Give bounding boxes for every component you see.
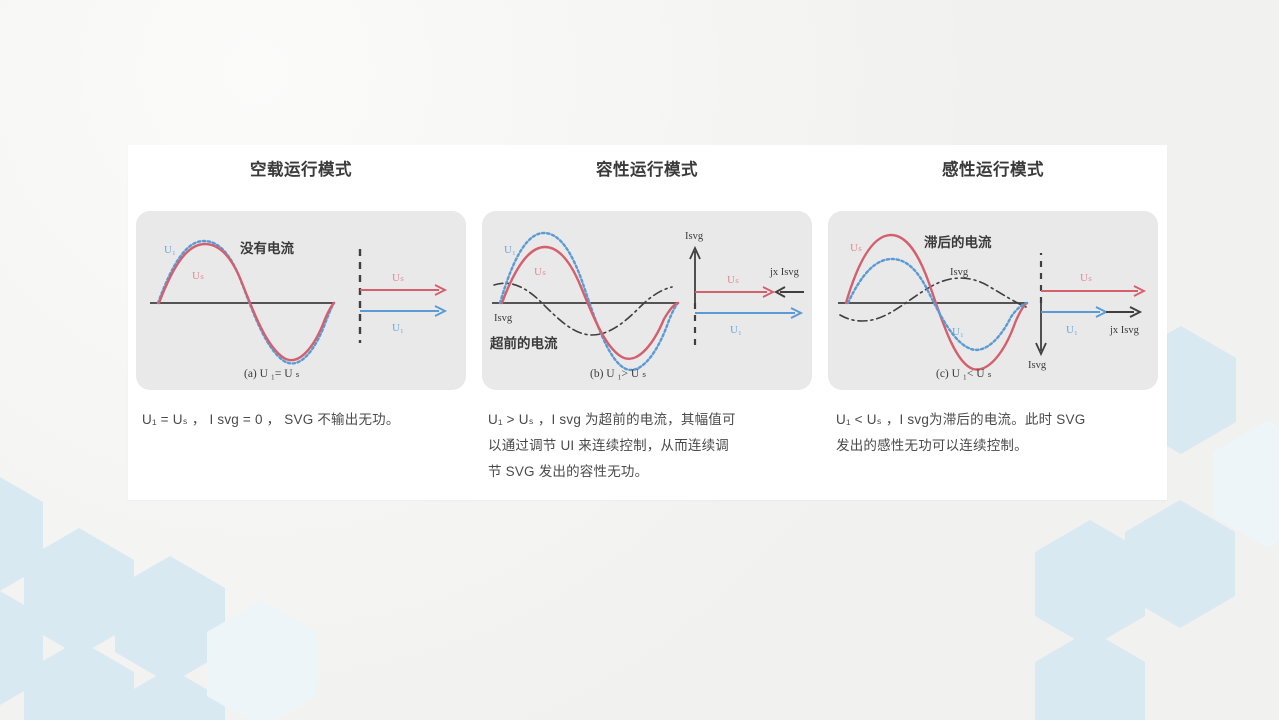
label-jx-isvg-c: jx Isvg (1109, 325, 1140, 336)
label-isvg-wave-b: Isvg (494, 313, 513, 324)
label-u1-phasor-b: U₁ (730, 324, 742, 336)
label-us-wave-c: Uₛ (850, 242, 862, 254)
label-us-wave-a: Uₛ (192, 270, 204, 282)
annotation-leading-current: 超前的电流 (489, 335, 558, 351)
caption-inductive: U₁ < Uₛ ，I svg为滞后的电流。此时 SVG 发出的感性无功可以连续控… (836, 407, 1160, 459)
figure-caption-a: (a) U ₁= U ₛ (244, 368, 300, 380)
label-us-phasor-b: Uₛ (727, 274, 739, 286)
caption-line: U₁ > Uₛ ，I svg 为超前的电流，其幅值可 (488, 407, 814, 433)
caption-no-load: U₁ = Uₛ ， I svg = 0 ， SVG 不输出无功。 (142, 407, 468, 433)
figure-panel-no-load: U₁ Uₛ 没有电流 Uₛ U₁ (a) U ₁= U ₛ (136, 211, 466, 390)
annotation-lagging-current: 滞后的电流 (924, 234, 992, 250)
caption-line: 节 SVG 发出的容性无功。 (488, 459, 814, 485)
column-no-load: 空载运行模式 U₁ Uₛ 没有电流 U (128, 145, 474, 500)
label-u1-phasor-a: U₁ (392, 322, 404, 334)
caption-line: U₁ = Uₛ ， I svg = 0 ， SVG 不输出无功。 (142, 407, 468, 433)
content-card: 空载运行模式 U₁ Uₛ 没有电流 U (128, 145, 1167, 500)
label-isvg-axis-c: Isvg (1028, 360, 1047, 371)
label-jx-isvg-b: jx Isvg (769, 267, 800, 278)
column-capacitive: 容性运行模式 U₁ Uₛ Isvg 超前的电流 Isvg (474, 145, 820, 500)
figure-caption-b: (b) U ₁> U ₛ (590, 368, 646, 380)
column-title-inductive: 感性运行模式 (820, 156, 1166, 180)
label-u1-phasor-c: U₁ (1066, 324, 1078, 336)
label-us-phasor-c: Uₛ (1080, 272, 1092, 284)
caption-line: 发出的感性无功可以连续控制。 (836, 433, 1160, 459)
label-u1-wave-c: U₁ (952, 326, 964, 338)
label-isvg-wave-c: Isvg (950, 267, 969, 278)
label-isvg-axis-b: Isvg (685, 231, 704, 242)
label-u1-wave-a: U₁ (164, 244, 176, 256)
waveform-us-a (159, 244, 334, 360)
label-us-wave-b: Uₛ (534, 266, 546, 278)
figure-panel-inductive: Uₛ U₁ Isvg 滞后的电流 Isvg Uₛ (828, 211, 1158, 390)
figure-caption-c: (c) U ₁< U ₛ (936, 368, 992, 380)
figure-panel-capacitive: U₁ Uₛ Isvg 超前的电流 Isvg Uₛ (482, 211, 812, 390)
column-title-no-load: 空载运行模式 (128, 156, 474, 180)
column-title-capacitive: 容性运行模式 (474, 156, 820, 180)
annotation-no-current: 没有电流 (240, 240, 294, 256)
label-u1-wave-b: U₁ (504, 244, 516, 256)
caption-capacitive: U₁ > Uₛ ，I svg 为超前的电流，其幅值可 以通过调节 UI 来连续控… (488, 407, 814, 485)
caption-line: 以通过调节 UI 来连续控制，从而连续调 (488, 433, 814, 459)
column-inductive: 感性运行模式 Uₛ U₁ Isvg 滞后的电流 Isvg (820, 145, 1166, 500)
caption-line: U₁ < Uₛ ，I svg为滞后的电流。此时 SVG (836, 407, 1160, 433)
label-us-phasor-a: Uₛ (392, 272, 404, 284)
